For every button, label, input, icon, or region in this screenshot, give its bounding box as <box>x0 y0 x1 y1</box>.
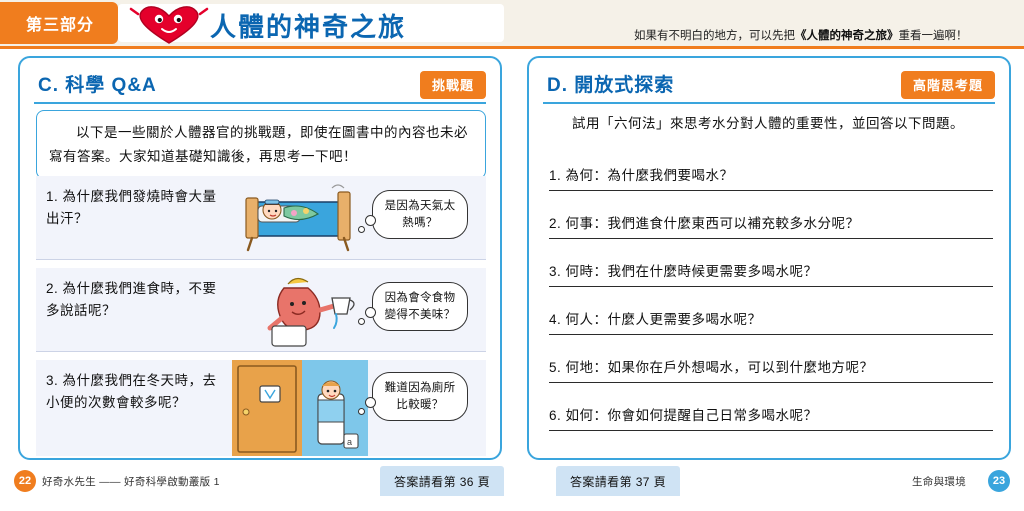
right-panel-badge: 高階思考題 <box>901 71 995 99</box>
page-root: 第三部分 人體的神奇之旅 如果有不明白的地方，可以先把《人體的神奇之旅》重看一遍… <box>0 0 1024 511</box>
right-intro-text: 試用「六何法」來思考水分對人體的重要性，並回答以下問題。 <box>545 112 995 136</box>
answer-ref-left: 答案請看第 36 頁 <box>380 466 504 496</box>
question-body-2: 為什麼我們進食時，不要多說話呢？ <box>46 281 217 318</box>
open-question-4: 4. 何人：什麼人更需要多喝水呢？ <box>549 308 993 328</box>
right-intro-text-wrap: 試用「六何法」來思考水分對人體的重要性，並回答以下問題。 <box>545 112 995 136</box>
stomach-character-pouring-illustration <box>246 270 366 350</box>
open-question-number-2: 2. <box>549 216 561 231</box>
question-text-3: 3. 為什麼我們在冬天時，去小便的次數會較多呢？ <box>46 370 228 413</box>
right-panel: D. 開放式探索 高階思考題 試用「六何法」來思考水分對人體的重要性，並回答以下… <box>527 56 1011 460</box>
header-note: 如果有不明白的地方，可以先把《人體的神奇之旅》重看一遍啊！ <box>634 27 968 43</box>
header-note-prefix: 如果有不明白的地方，可以先把 <box>634 30 795 42</box>
open-question-body-3: 何時：我們在什麼時候更需要多喝水呢？ <box>566 264 818 279</box>
open-question-body-5: 何地：如果你在戶外想喝水，可以到什麼地方呢？ <box>566 360 874 375</box>
question-number-3: 3. <box>46 373 58 388</box>
open-question-number-3: 3. <box>549 264 561 279</box>
open-question-body-2: 何事：我們進食什麼東西可以補充較多水分呢？ <box>566 216 860 231</box>
sick-child-in-bed-illustration <box>232 180 364 256</box>
question-body-1: 為什麼我們發燒時會大量出汗？ <box>46 189 217 226</box>
thought-bubble-1: 是因為天氣太熱嗎？ <box>372 190 468 239</box>
question-body-3: 為什麼我們在冬天時，去小便的次數會較多呢？ <box>46 373 217 410</box>
left-panel-rule <box>34 102 486 104</box>
footer-text-right: 生命與環境 <box>912 474 966 489</box>
question-row: 3. 為什麼我們在冬天時，去小便的次數會較多呢？ <box>36 360 486 456</box>
question-row: 2. 為什麼我們進食時，不要多說話呢？ 因為會令食物變得不美味？ <box>36 268 486 352</box>
page-header: 第三部分 人體的神奇之旅 如果有不明白的地方，可以先把《人體的神奇之旅》重看一遍… <box>0 0 1024 52</box>
answer-line-1[interactable] <box>549 190 993 191</box>
open-question-number-6: 6. <box>549 408 561 423</box>
right-panel-rule <box>543 102 995 104</box>
open-question-6: 6. 如何：你會如何提醒自己日常多喝水呢？ <box>549 404 993 424</box>
question-text-2: 2. 為什麼我們進食時，不要多說話呢？ <box>46 278 228 321</box>
header-rule <box>0 46 1024 49</box>
question-number-1: 1. <box>46 189 58 204</box>
header-note-suffix: 重看一遍啊！ <box>899 30 968 42</box>
header-note-book: 《人體的神奇之旅》 <box>795 30 899 42</box>
thought-bubble-2: 因為會令食物變得不美味？ <box>372 282 468 331</box>
page-number-left: 22 <box>14 470 36 492</box>
open-question-5: 5. 何地：如果你在戶外想喝水，可以到什麼地方呢？ <box>549 356 993 376</box>
answer-line-5[interactable] <box>549 382 993 383</box>
open-question-1: 1. 為何：為什麼我們要喝水？ <box>549 164 993 184</box>
answer-ref-right: 答案請看第 37 頁 <box>556 466 680 496</box>
left-intro-box: 以下是一些關於人體器官的挑戰題，即使在圖書中的內容也未必寫有答案。大家知道基礎知… <box>36 110 486 179</box>
left-intro-text: 以下是一些關於人體器官的挑戰題，即使在圖書中的內容也未必寫有答案。大家知道基礎知… <box>49 121 473 168</box>
svg-text:a: a <box>347 437 352 447</box>
left-panel-badge: 挑戰題 <box>420 71 486 99</box>
open-question-number-1: 1. <box>549 168 561 183</box>
open-question-3: 3. 何時：我們在什麼時候更需要多喝水呢？ <box>549 260 993 280</box>
heart-icon <box>126 2 212 46</box>
answer-line-2[interactable] <box>549 238 993 239</box>
question-row: 1. 為什麼我們發燒時會大量出汗？ <box>36 176 486 260</box>
question-text-1: 1. 為什麼我們發燒時會大量出汗？ <box>46 186 228 229</box>
open-question-number-5: 5. <box>549 360 561 375</box>
open-question-body-1: 為何：為什麼我們要喝水？ <box>566 168 734 183</box>
open-question-body-6: 如何：你會如何提醒自己日常多喝水呢？ <box>566 408 818 423</box>
open-question-number-4: 4. <box>549 312 561 327</box>
answer-line-6[interactable] <box>549 430 993 431</box>
open-question-2: 2. 何事：我們進食什麼東西可以補充較多水分呢？ <box>549 212 993 232</box>
answer-line-3[interactable] <box>549 286 993 287</box>
open-question-body-4: 何人：什麼人更需要多喝水呢？ <box>566 312 762 327</box>
left-panel: C. 科學 Q&A 挑戰題 以下是一些關於人體器官的挑戰題，即使在圖書中的內容也… <box>18 56 502 460</box>
question-number-2: 2. <box>46 281 58 296</box>
thought-bubble-3: 難道因為廁所比較暖？ <box>372 372 468 421</box>
footer-text-left: 好奇水先生 —— 好奇科學啟動叢版 1 <box>42 474 220 489</box>
page-title: 人體的神奇之旅 <box>210 7 406 44</box>
answer-line-4[interactable] <box>549 334 993 335</box>
page-number-right: 23 <box>988 470 1010 492</box>
boy-at-toilet-door-illustration: a <box>232 360 368 456</box>
left-panel-title: C. 科學 Q&A <box>38 70 157 97</box>
part-label: 第三部分 <box>26 11 94 35</box>
right-panel-title: D. 開放式探索 <box>547 70 674 97</box>
